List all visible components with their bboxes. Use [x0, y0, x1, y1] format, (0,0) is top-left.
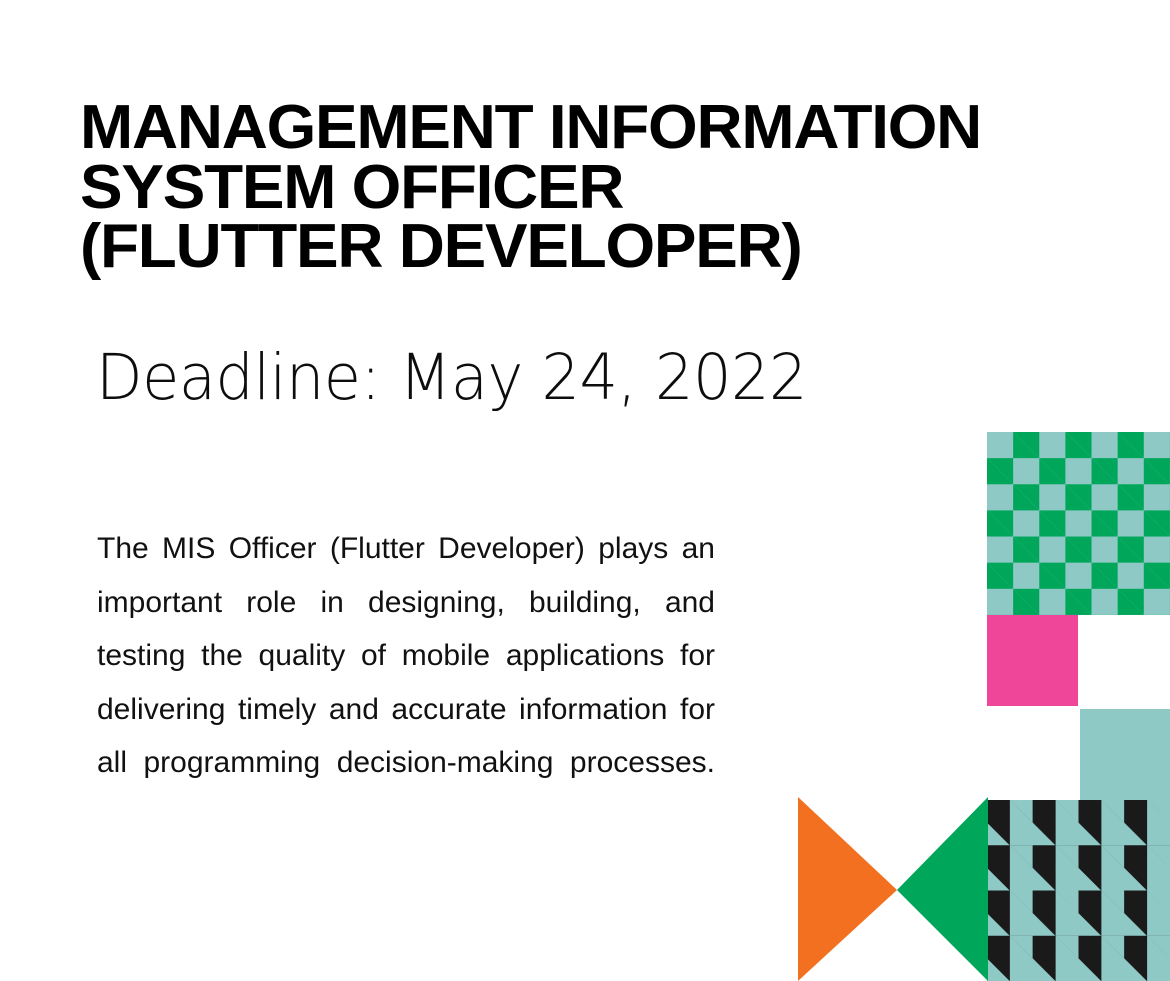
page-title-line-3: (FLUTTER DEVELOPER) [80, 217, 1120, 277]
page-title-line-1: MANAGEMENT INFORMATION [80, 98, 1120, 158]
bowtie-shape [798, 797, 988, 981]
checkerboard-pattern [987, 432, 1170, 615]
job-description-paragraph: The MIS Officer (Flutter Developer) play… [97, 522, 715, 843]
green-triangle-icon [897, 797, 988, 981]
deadline-text: Deadline: May 24, 2022 [96, 345, 807, 411]
triangle-pattern [987, 800, 1170, 981]
page-title: MANAGEMENT INFORMATION SYSTEM OFFICER (F… [80, 98, 1090, 277]
teal-square-shape [1080, 709, 1170, 801]
orange-triangle-icon [798, 797, 897, 981]
triangle-pattern-overlay [987, 800, 1170, 981]
poster-canvas: MANAGEMENT INFORMATION SYSTEM OFFICER (F… [0, 0, 1170, 981]
pink-square-shape [987, 615, 1078, 706]
page-title-line-2: SYSTEM OFFICER [80, 158, 1120, 218]
